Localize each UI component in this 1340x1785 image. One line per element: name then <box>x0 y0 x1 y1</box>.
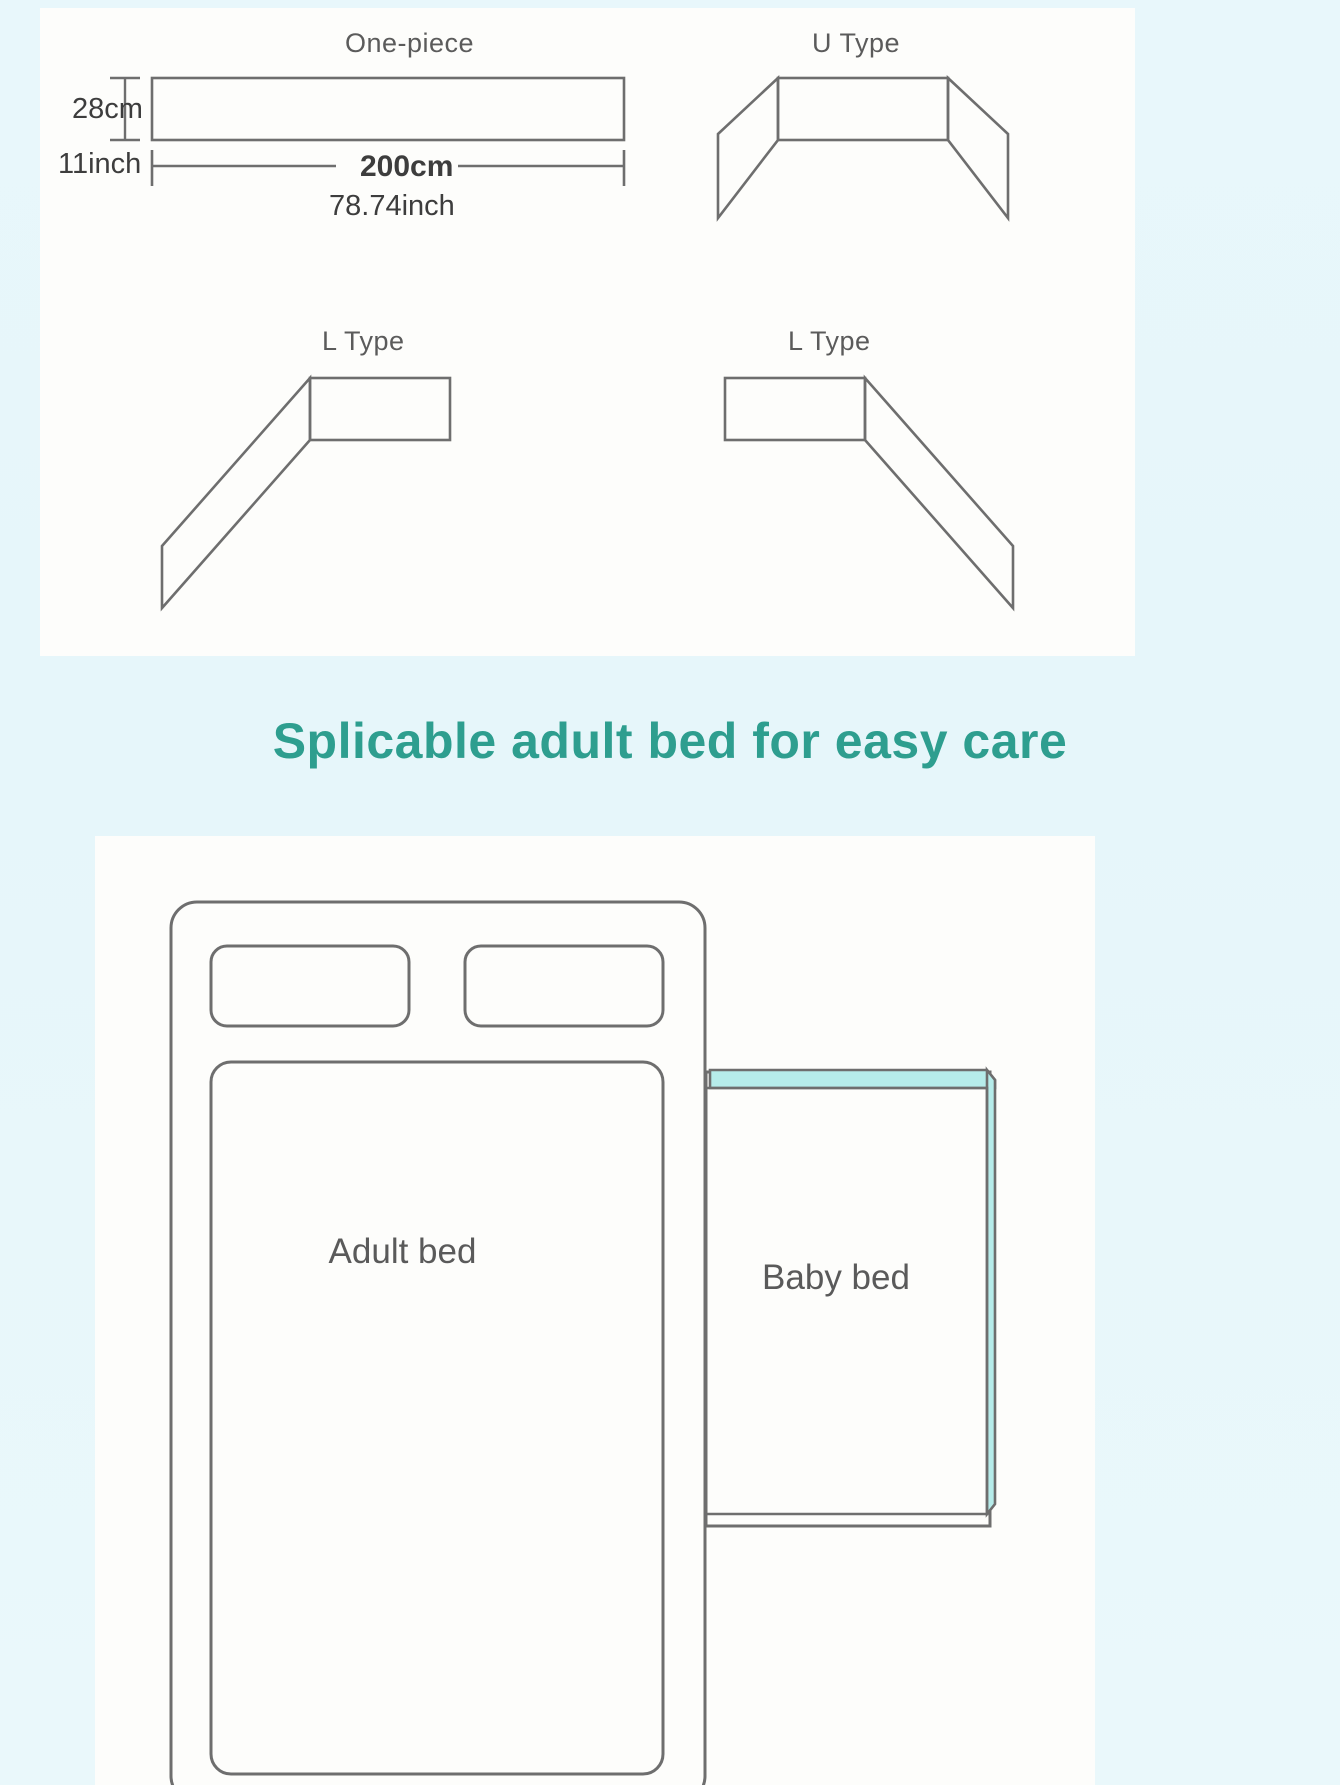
height-cm-label: 28cm <box>72 93 143 126</box>
one-piece-title: One-piece <box>345 28 474 59</box>
adult-bed-pillow-right <box>465 946 663 1026</box>
length-cm-label: 200cm <box>360 150 453 184</box>
l-type-left-title: L Type <box>322 326 405 357</box>
section-heading: Splicable adult bed for easy care <box>0 712 1340 770</box>
adult-bed-frame <box>171 902 705 1785</box>
adult-bed-shape <box>171 902 705 1785</box>
adult-bed-label: Adult bed <box>0 1232 805 1272</box>
length-inch-label: 78.74inch <box>329 190 455 223</box>
height-inch-label: 11inch <box>58 148 141 181</box>
l-type-left-shape <box>162 378 450 608</box>
adult-bed-duvet <box>211 1062 663 1774</box>
baby-bed-label: Baby bed <box>700 1258 972 1298</box>
bed-combination-drawing <box>95 836 1095 1785</box>
baby-bed-shape <box>706 1070 995 1526</box>
l-type-right-shape <box>725 378 1013 608</box>
one-piece-rail-shape <box>152 78 624 140</box>
infographic-page: One-piece U Type L Type L Type 28cm 11in… <box>0 0 1340 1785</box>
u-type-title: U Type <box>812 28 900 59</box>
u-type-shape <box>718 78 1008 218</box>
bed-rail-types-panel: One-piece U Type L Type L Type 28cm 11in… <box>40 8 1135 656</box>
adult-bed-pillow-left <box>211 946 409 1026</box>
bed-combination-panel <box>95 836 1095 1785</box>
baby-bed-top-rail <box>710 1070 995 1088</box>
bed-rail-types-drawing <box>40 8 1135 656</box>
l-type-right-title: L Type <box>788 326 871 357</box>
